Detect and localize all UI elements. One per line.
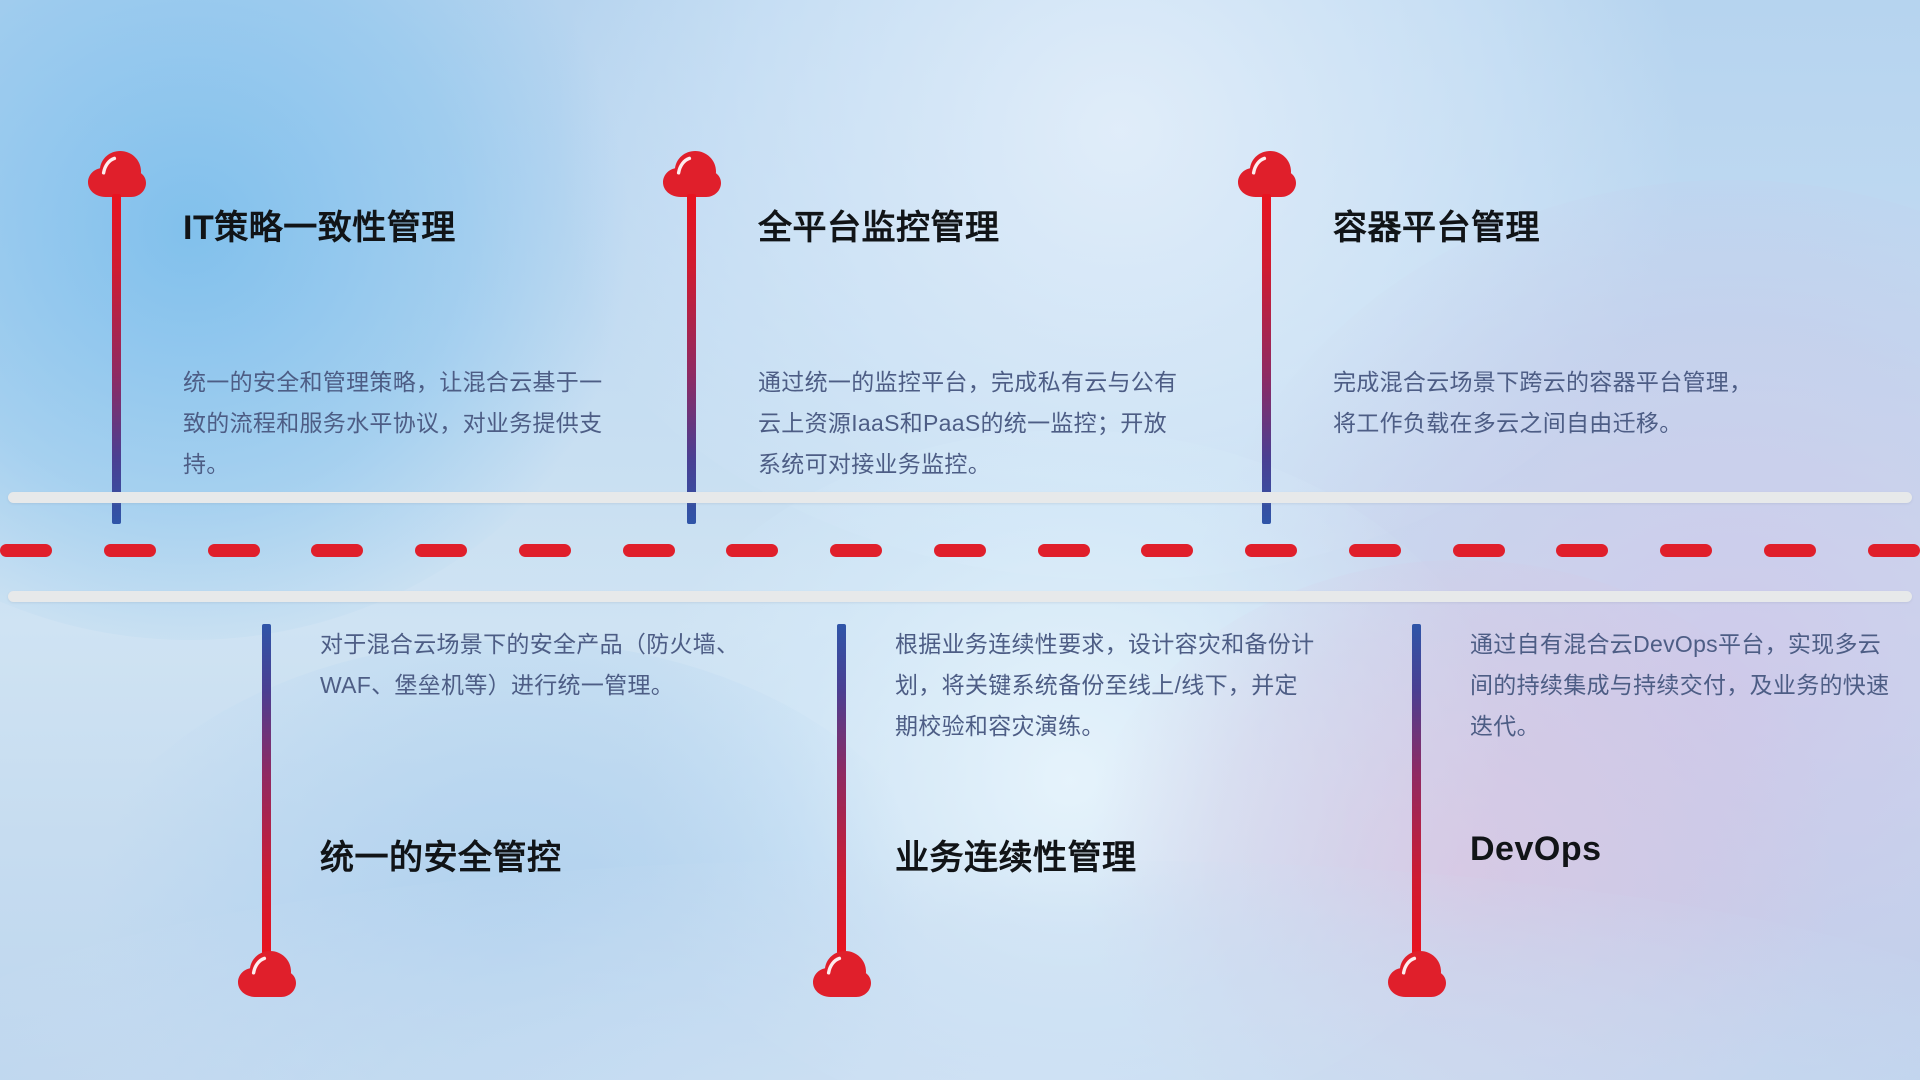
- card-heading: 容器平台管理: [1333, 200, 1540, 249]
- card-heading: 全平台监控管理: [758, 200, 1000, 249]
- connector-line: [837, 624, 846, 954]
- card-body: 通过自有混合云DevOps平台，实现多云间的持续集成与持续交付，及业务的快速迭代…: [1470, 624, 1890, 747]
- dash-segment: [830, 544, 882, 557]
- cloud-icon: [236, 950, 298, 998]
- card-heading: 业务连续性管理: [895, 830, 1137, 879]
- dash-segment: [1141, 544, 1193, 557]
- infographic-canvas: IT策略一致性管理 统一的安全和管理策略，让混合云基于一致的流程和服务水平协议，…: [0, 0, 1920, 1080]
- dash-segment: [1868, 544, 1920, 557]
- cloud-icon: [1386, 950, 1448, 998]
- card-body: 对于混合云场景下的安全产品（防火墙、WAF、堡垒机等）进行统一管理。: [320, 624, 740, 706]
- dash-segment: [0, 544, 52, 557]
- dash-segment: [726, 544, 778, 557]
- connector-line: [262, 624, 271, 954]
- dash-segment: [104, 544, 156, 557]
- card-body: 统一的安全和管理策略，让混合云基于一致的流程和服务水平协议，对业务提供支持。: [183, 362, 603, 485]
- dash-segment: [415, 544, 467, 557]
- dash-segment: [1245, 544, 1297, 557]
- dash-segment: [1038, 544, 1090, 557]
- dash-segment: [208, 544, 260, 557]
- dash-segment: [519, 544, 571, 557]
- dash-segment: [1556, 544, 1608, 557]
- connector-line: [112, 194, 121, 524]
- dash-segment: [1660, 544, 1712, 557]
- divider-dashed-line: [0, 543, 1920, 557]
- cloud-icon: [1236, 150, 1298, 198]
- dash-segment: [623, 544, 675, 557]
- cloud-icon: [661, 150, 723, 198]
- dash-segment: [311, 544, 363, 557]
- connector-line: [1262, 194, 1271, 524]
- dash-segment: [1453, 544, 1505, 557]
- connector-line: [1412, 624, 1421, 954]
- connector-line: [687, 194, 696, 524]
- dash-segment: [1349, 544, 1401, 557]
- card-body: 完成混合云场景下跨云的容器平台管理，将工作负载在多云之间自由迁移。: [1333, 362, 1753, 444]
- background-gradient: [0, 0, 1920, 1080]
- card-heading: 统一的安全管控: [320, 830, 562, 879]
- card-body: 根据业务连续性要求，设计容灾和备份计划，将关键系统备份至线上/线下，并定期校验和…: [895, 624, 1315, 747]
- cloud-icon: [811, 950, 873, 998]
- dash-segment: [934, 544, 986, 557]
- cloud-icon: [86, 150, 148, 198]
- divider-rule-bottom: [8, 591, 1912, 602]
- card-heading: DevOps: [1470, 830, 1602, 869]
- dash-segment: [1764, 544, 1816, 557]
- card-body: 通过统一的监控平台，完成私有云与公有云上资源IaaS和PaaS的统一监控；开放系…: [758, 362, 1178, 485]
- card-heading: IT策略一致性管理: [183, 200, 456, 249]
- divider-rule-top: [8, 492, 1912, 503]
